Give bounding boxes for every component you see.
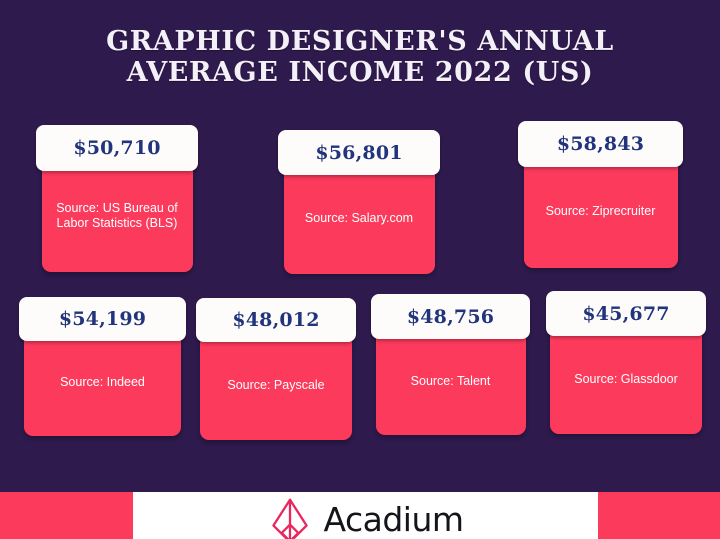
stat-source: Source: US Bureau of Labor Statistics (B… xyxy=(50,201,185,231)
stat-amount: $54,199 xyxy=(59,308,146,330)
stat-card-body: Source: Ziprecruiter xyxy=(524,161,678,268)
stat-card-talent: $48,756 Source: Talent xyxy=(371,294,530,435)
stat-card-salarycom: $56,801 Source: Salary.com xyxy=(278,130,440,274)
stat-card-payscale: $48,012 Source: Payscale xyxy=(196,298,356,440)
stat-amount: $58,843 xyxy=(557,133,644,155)
infographic-canvas: GRAPHIC DESIGNER'S ANNUAL AVERAGE INCOME… xyxy=(0,0,720,539)
stat-card-indeed: $54,199 Source: Indeed xyxy=(19,297,186,436)
footer-brand-panel: Acadium xyxy=(133,492,598,539)
stat-card-header: $50,710 xyxy=(36,125,198,171)
acadium-logo: Acadium xyxy=(267,497,463,539)
title-line-1: GRAPHIC DESIGNER'S ANNUAL xyxy=(0,26,720,57)
stat-source: Source: Salary.com xyxy=(305,211,413,226)
stat-amount: $50,710 xyxy=(73,137,160,159)
stat-source: Source: Payscale xyxy=(227,378,324,393)
acadium-wordmark: Acadium xyxy=(323,503,463,536)
stat-card-bls: $50,710 Source: US Bureau of Labor Stati… xyxy=(36,125,198,272)
stat-card-body: Source: Payscale xyxy=(200,336,352,440)
stat-card-body: Source: US Bureau of Labor Statistics (B… xyxy=(42,165,193,272)
stat-card-header: $58,843 xyxy=(518,121,683,167)
stat-card-header: $48,012 xyxy=(196,298,356,342)
stat-card-body: Source: Indeed xyxy=(24,335,181,436)
stat-amount: $56,801 xyxy=(315,142,402,164)
stat-card-header: $48,756 xyxy=(371,294,530,339)
stat-amount: $45,677 xyxy=(582,303,669,325)
stat-card-body: Source: Glassdoor xyxy=(550,330,702,434)
stat-source: Source: Glassdoor xyxy=(574,372,678,387)
footer-bar: Acadium xyxy=(0,492,720,539)
stat-card-body: Source: Talent xyxy=(376,333,526,435)
acadium-diamond-icon xyxy=(267,497,313,539)
title-line-2: AVERAGE INCOME 2022 (US) xyxy=(0,57,720,88)
stat-amount: $48,012 xyxy=(232,309,319,331)
stat-source: Source: Indeed xyxy=(60,375,145,390)
stat-source: Source: Talent xyxy=(411,374,491,389)
stat-card-header: $45,677 xyxy=(546,291,706,336)
stat-card-glassdoor: $45,677 Source: Glassdoor xyxy=(546,291,706,434)
stat-card-header: $54,199 xyxy=(19,297,186,341)
stat-card-ziprecruiter: $58,843 Source: Ziprecruiter xyxy=(518,121,683,268)
page-title: GRAPHIC DESIGNER'S ANNUAL AVERAGE INCOME… xyxy=(0,26,720,88)
stat-card-header: $56,801 xyxy=(278,130,440,175)
stat-card-body: Source: Salary.com xyxy=(284,169,435,274)
stat-source: Source: Ziprecruiter xyxy=(546,204,656,219)
stat-amount: $48,756 xyxy=(407,306,494,328)
